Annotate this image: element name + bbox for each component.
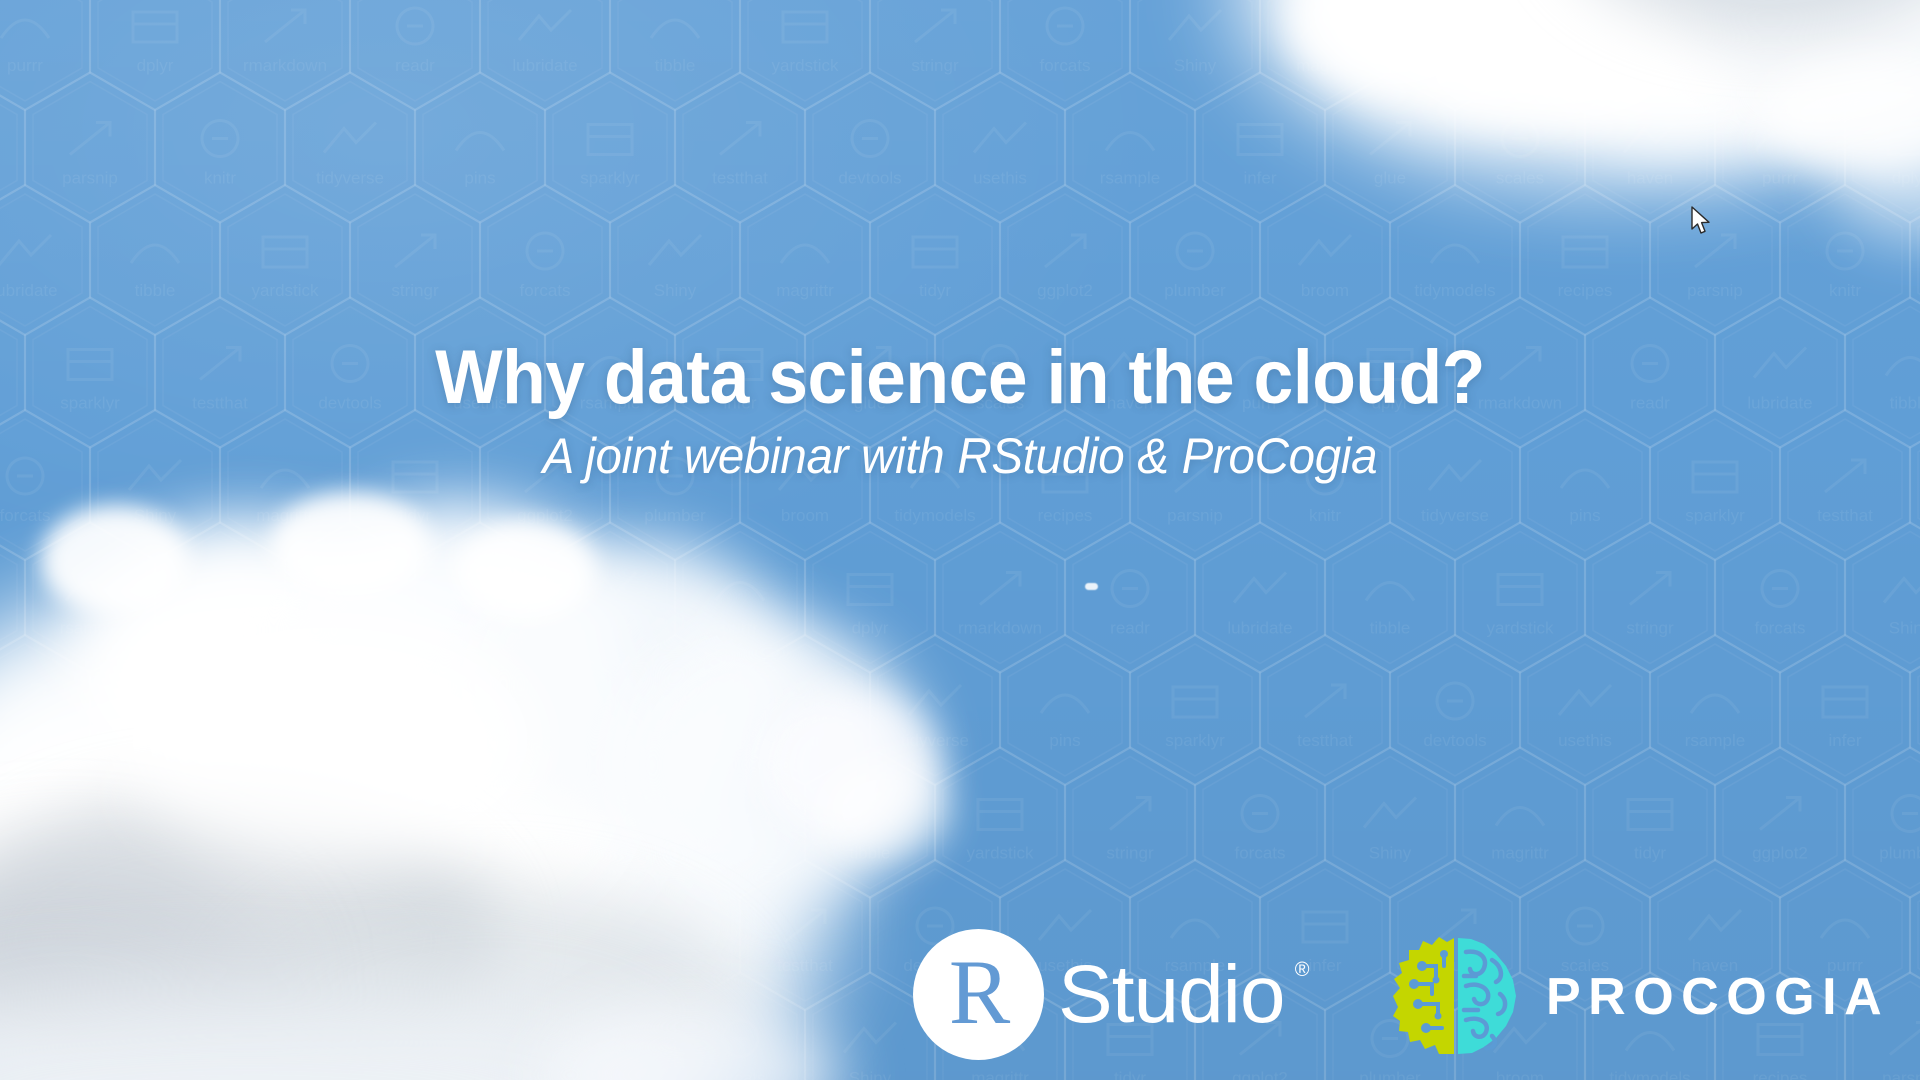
procogia-brain-icon xyxy=(1392,932,1520,1060)
rstudio-wordmark-text: Studio xyxy=(1058,949,1285,1040)
procogia-logo[interactable]: PROCOGIA xyxy=(1392,928,1889,1063)
rstudio-r-mark-icon: R xyxy=(913,929,1044,1060)
cloud-bottom-left-tuft-c xyxy=(455,520,595,620)
cloud-top-right-wisp-b xyxy=(1420,10,1680,130)
cloud-bottom-left-tuft-a xyxy=(40,505,190,615)
cloud-bottom-left-tuft-b xyxy=(270,492,430,597)
registered-trademark-icon: ® xyxy=(1295,960,1309,980)
webinar-title-slide: havenpurrrdplyrrmarkdownreadrlubridateti… xyxy=(0,0,1920,1080)
rstudio-logo[interactable]: R Studio ® xyxy=(913,924,1285,1064)
procogia-wordmark: PROCOGIA xyxy=(1546,971,1889,1023)
white-dash-artifact xyxy=(1085,583,1098,590)
rstudio-r-letter: R xyxy=(949,946,1010,1038)
rstudio-wordmark: Studio ® xyxy=(1058,954,1285,1036)
logo-bar: R Studio ® xyxy=(0,918,1920,1073)
cloud-bottom-left-wisp-edge xyxy=(820,760,950,860)
cloud-bottom-left-highlight xyxy=(120,620,540,860)
